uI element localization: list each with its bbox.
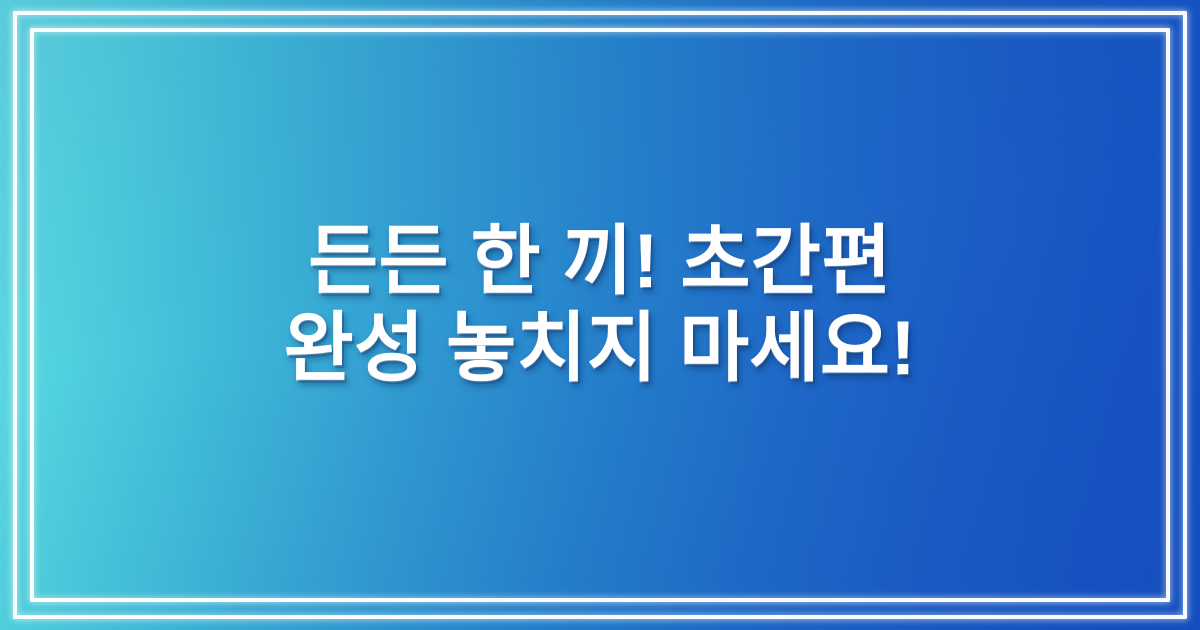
promo-banner: 든든 한 끼! 초간편 완성 놓치지 마세요! — [0, 0, 1200, 630]
headline-line-1: 든든 한 끼! 초간편 — [308, 222, 892, 303]
headline-line-2: 완성 놓치지 마세요! — [284, 309, 916, 390]
headline-block: 든든 한 끼! 초간편 완성 놓치지 마세요! — [0, 0, 1200, 630]
